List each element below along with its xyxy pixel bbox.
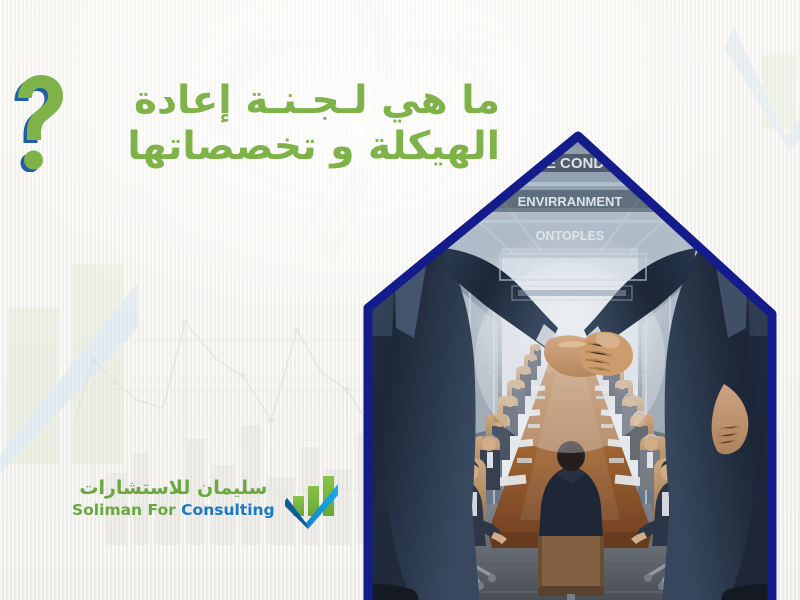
question-mark-icon xyxy=(8,72,70,172)
brand-logo[interactable]: سليمان للاستشارات Soliman For Consulting xyxy=(72,468,343,530)
logo-watermark-left xyxy=(0,230,195,480)
brand-name-arabic: سليمان للاستشارات xyxy=(72,479,275,499)
brand-word-soliman: Soliman xyxy=(72,501,142,519)
brand-word-consulting: Consulting xyxy=(181,501,274,519)
page-title: ما هي لـجـنـة إعادة الهيكلة و تخصصاتها xyxy=(40,78,500,170)
brand-name-english: Soliman For Consulting xyxy=(72,502,275,520)
bars-checkmark-logo-icon xyxy=(285,468,343,530)
headline-line-1: ما هي لـجـنـة إعادة xyxy=(40,78,500,124)
headline-line-2: الهيكلة و تخصصاتها xyxy=(40,124,500,170)
photo-frame-pentagon: VE COND ENVIRRANMENT ONTOPLES HIPPAPGLES xyxy=(352,128,788,600)
brand-logo-text: سليمان للاستشارات Soliman For Consulting xyxy=(72,479,275,520)
poster-canvas: ما هي لـجـنـة إعادة الهيكلة و تخصصاتها xyxy=(0,0,800,600)
brand-word-for: For xyxy=(148,501,176,519)
